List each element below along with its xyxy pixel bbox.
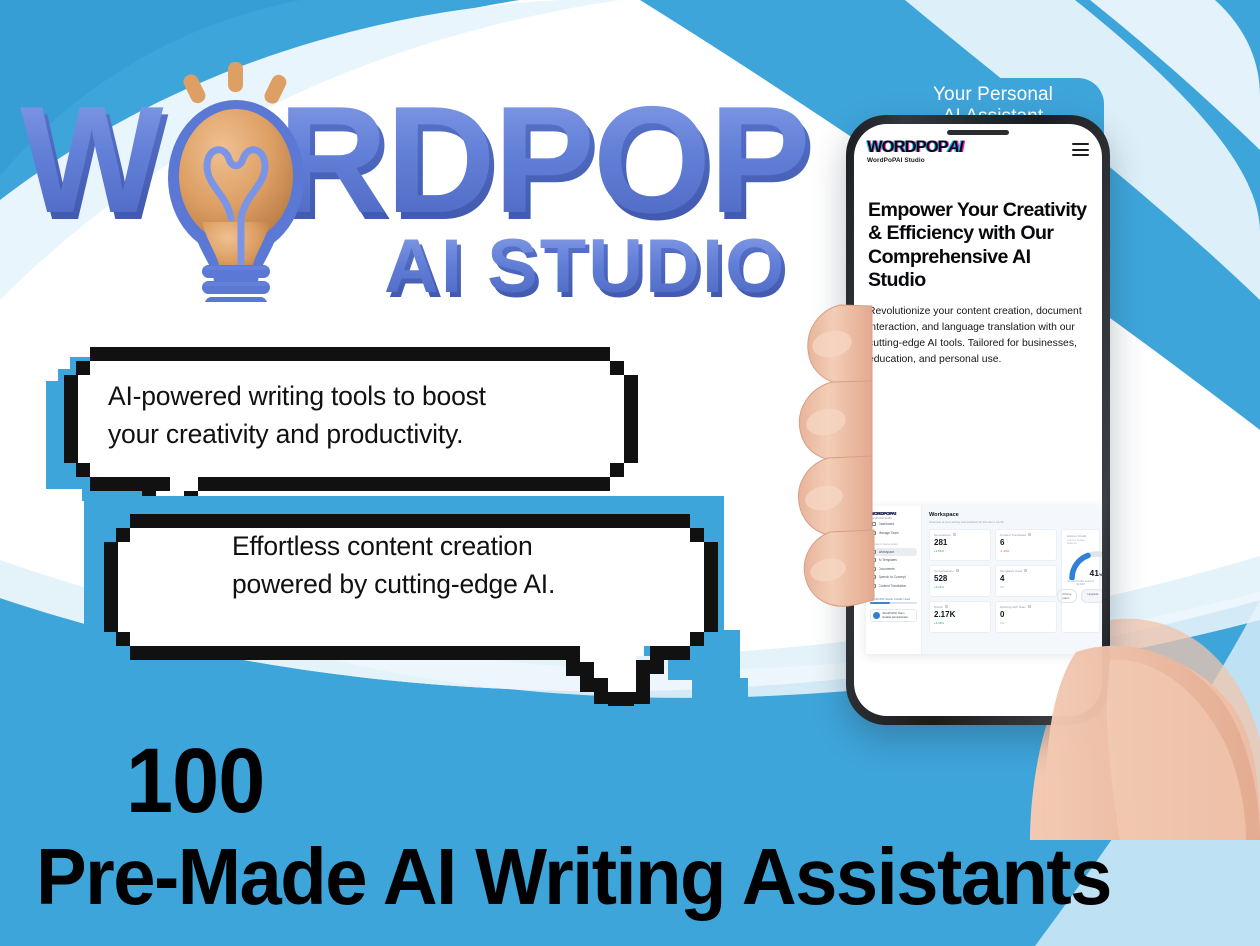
upgrade-button[interactable]: Upgrade (1081, 589, 1102, 603)
stat-value: 0 (1000, 610, 1052, 619)
headline-text: Pre-Made AI Writing Assistants (36, 835, 1199, 919)
svg-text:W: W (20, 75, 164, 245)
svg-text:RDPOP: RDPOP (278, 75, 809, 245)
wordpop-logo: W W RDPOP RDPOP (10, 52, 840, 302)
phone-mockup: WORDPOPAI WordPoPAI Studio Empower Your … (780, 100, 1260, 840)
hero-title: Empower Your Creativity & Efficiency wit… (854, 164, 1102, 293)
info-icon (1024, 569, 1027, 572)
dashboard-icon (872, 522, 876, 526)
user-card[interactable]: WordPoPAI Team Enable administrator (870, 609, 917, 622)
workspace-title: Workspace (929, 512, 1100, 518)
credits-progress-bar (870, 602, 917, 604)
stat-label: Words (934, 605, 943, 609)
document-icon (872, 567, 876, 571)
speech-bubble-2-text: Effortless content creation powered by c… (232, 528, 752, 603)
phone-speaker (947, 130, 1009, 135)
stat-card: Conversations 528 +3.21% (929, 565, 991, 597)
speech-bubble-1-text: AI-powered writing tools to boost your c… (108, 378, 628, 453)
credit-gauge: 41% (1067, 548, 1102, 578)
sidebar-item-label: Documents (879, 567, 895, 571)
app-logo: WORDPOPAI WordPoPAI Studio (867, 139, 963, 164)
dashboard-main: Workspace Overview of your activity and … (922, 506, 1102, 654)
addon-credit-card: Add-on Credit Current Usage / Balance 41… (1061, 529, 1100, 633)
stat-delta: -1.13% (1000, 549, 1052, 553)
user-role: Enable administrator (883, 615, 909, 619)
stat-delta: 0% (1000, 585, 1052, 589)
gauge-label: Add-on Credit (1067, 534, 1094, 538)
gauge-percent-suffix: % (1099, 572, 1102, 577)
stat-label: Content Translated (1000, 533, 1026, 537)
sidebar-item-label: Manage Team (879, 531, 899, 535)
bubble-2-line-2: powered by cutting-edge AI. (232, 566, 752, 604)
stat-delta: +4.08% (934, 621, 986, 625)
stats-grid: Generations 281 +2.54% Conversations 528… (929, 529, 1100, 633)
translate-icon (872, 584, 876, 588)
info-icon (1028, 605, 1031, 608)
app-logo-ai: AI (946, 139, 964, 156)
dashboard-sidebar: WORDPOPAI WordPoPAI Studio Dashboard Man… (866, 506, 922, 654)
stat-delta: +2.54% (934, 549, 986, 553)
template-icon (872, 558, 876, 562)
sidebar-item-dashboard[interactable]: Dashboard (870, 520, 917, 528)
gauge-note: 13,000 credits used of 32,000 (1067, 580, 1094, 586)
stat-value: 2.17K (934, 610, 986, 619)
stat-card: Templates Used 4 0% (995, 565, 1057, 597)
dashboard-preview: WORDPOPAI WordPoPAI Studio Dashboard Man… (866, 506, 1102, 654)
hamburger-icon[interactable] (1072, 139, 1089, 160)
stat-card: Generations 281 +2.54% (929, 529, 991, 561)
sidebar-item-label: Speech to Concept (879, 575, 906, 579)
dashboard-brand: WORDPOPAI (870, 511, 917, 516)
workspace-subtitle: Overview of your activity and statistics… (929, 520, 1100, 524)
bubble-1-line-2: your creativity and productivity. (108, 416, 628, 454)
stat-card: Content Translated 6 -1.13% (995, 529, 1057, 561)
sidebar-section-label: Content Generation (871, 542, 917, 546)
sidebar-item-label: AI Templates (879, 558, 897, 562)
hero-body: Revolutionize your content creation, doc… (854, 293, 1102, 369)
speech-icon (872, 575, 876, 579)
speech-bubble-1: AI-powered writing tools to boost your c… (46, 345, 646, 520)
app-logo-text: WORDPOPAI (867, 139, 963, 156)
info-icon (956, 569, 959, 572)
stat-card: Working with Team 0 0% (995, 601, 1057, 633)
speech-bubble-2: Effortless content creation powered by c… (84, 496, 784, 711)
gauge-sublabel: Current Usage / Balance (1067, 539, 1094, 545)
sidebar-item-manage-team[interactable]: Manage Team (870, 529, 917, 537)
sidebar-item-ai-templates[interactable]: AI Templates (870, 556, 917, 564)
sidebar-item-label: Content Translation (879, 584, 907, 588)
workspace-icon (872, 550, 876, 554)
stat-value: 281 (934, 538, 986, 547)
stat-value: 4 (1000, 574, 1052, 583)
gauge-percent: 41 (1089, 568, 1098, 578)
stat-card: Words 2.17K +4.08% (929, 601, 991, 633)
stat-label: Generations (934, 533, 951, 537)
stat-label: Conversations (934, 569, 954, 573)
pricing-plans-button[interactable]: Pricing plans (1057, 589, 1078, 603)
svg-text:AI STUDIO: AI STUDIO (384, 224, 786, 302)
sidebar-item-documents[interactable]: Documents (870, 565, 917, 573)
info-icon (953, 533, 956, 536)
info-icon (1028, 533, 1031, 536)
stat-label: Working with Team (1000, 605, 1026, 609)
sidebar-item-workspace[interactable]: Workspace (870, 548, 917, 556)
stat-delta: +3.21% (934, 585, 986, 589)
info-icon (945, 605, 948, 608)
team-icon (872, 531, 876, 535)
sidebar-item-content-translation[interactable]: Content Translation (870, 582, 917, 590)
bottom-headline: 100 Pre-Made AI Writing Assistants (0, 735, 1260, 919)
bubble-1-line-1: AI-powered writing tools to boost (108, 378, 628, 416)
headline-count: 100 (126, 735, 1169, 827)
stat-value: 6 (1000, 538, 1052, 547)
stat-value: 528 (934, 574, 986, 583)
stat-label: Templates Used (1000, 569, 1022, 573)
sidebar-item-label: Dashboard (879, 522, 895, 526)
sidebar-item-speech-to-concept[interactable]: Speech to Concept (870, 573, 917, 581)
logo-artwork: W W RDPOP RDPOP (10, 52, 840, 302)
avatar (873, 612, 880, 619)
phone-device: WORDPOPAI WordPoPAI Studio Empower Your … (846, 115, 1110, 725)
credits-label: WordPoPAI Studio Credits Used (870, 597, 917, 601)
app-tagline: WordPoPAI Studio (867, 158, 963, 164)
stat-delta: 0% (1000, 621, 1052, 625)
bubble-2-line-1: Effortless content creation (232, 528, 752, 566)
phone-screen: WORDPOPAI WordPoPAI Studio Empower Your … (854, 124, 1102, 716)
promo-canvas: W W RDPOP RDPOP (0, 0, 1260, 946)
sidebar-item-label: Workspace (879, 550, 895, 554)
